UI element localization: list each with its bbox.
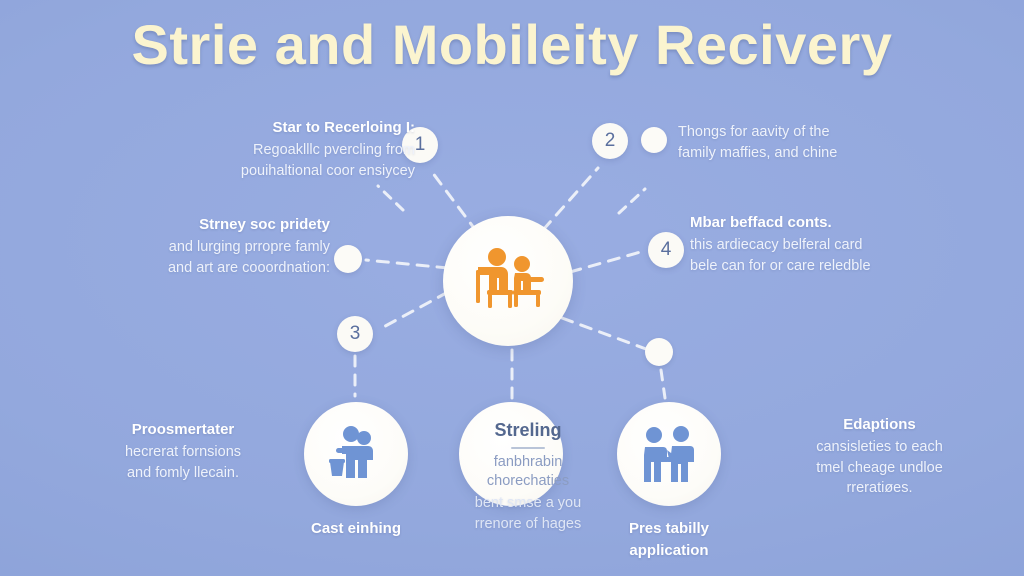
callout-line-1: this ardiecacy belferal card (690, 235, 990, 256)
feature-item-2[interactable] (446, 402, 576, 518)
callout-line-2: bele can for or care reledble (690, 256, 990, 277)
callout-line-1: cansisleties to each (762, 437, 997, 458)
feature-caption-line-1: Pres tabilly (604, 518, 734, 540)
callout-bottom-left: Proosmertater hecrerat fornsions and fom… (78, 420, 288, 483)
feature-caption-line-2: application (604, 540, 734, 562)
callout-heading: Proosmertater (78, 420, 288, 440)
two-people-standing-icon (637, 424, 701, 484)
callout-heading: Strney soc pridety (60, 215, 330, 235)
feature-caption: Pres tabilly application (604, 518, 734, 562)
callout-mid-left: Strney soc pridety and lurging prropre f… (60, 215, 330, 278)
callout-bottom-right: Edaptions cansisleties to each tmel chea… (762, 415, 997, 499)
step-badge-4[interactable]: 4 (648, 232, 684, 268)
callout-line-2: tmel cheage undloe (762, 458, 997, 479)
callout-heading: Mbar beffacd conts. (690, 213, 990, 233)
infographic-canvas: Strie and Mobileity Recivery (0, 0, 1024, 576)
callout-line-1: Thongs for aavity of the (678, 122, 978, 143)
badge-number: 2 (605, 130, 616, 152)
badge-number: 3 (350, 323, 361, 345)
callout-line-1: hecrerat fornsions (78, 442, 288, 463)
badge-number: 4 (661, 239, 672, 261)
callout-line-2: family maffies, and chine (678, 143, 978, 164)
page-title: Strie and Mobileity Recivery (0, 12, 1024, 77)
node-dot-right (645, 338, 673, 366)
two-people-with-bucket-icon (324, 424, 388, 484)
feature-item-3[interactable]: Pres tabilly application (604, 402, 734, 562)
center-hub-circle[interactable] (443, 216, 573, 346)
callout-line-1: Regoaklllc pvercling from (120, 140, 415, 161)
callout-heading: Star to Recerloing I: (120, 118, 415, 138)
callout-line-2: and fomly llecain. (78, 463, 288, 484)
node-dot-left (334, 245, 362, 273)
feature-caption: Cast einhing (291, 518, 421, 540)
callout-line-1: and lurging prropre famly (60, 237, 330, 258)
callout-top-right: Thongs for aavity of the family maffies,… (678, 122, 978, 163)
callout-heading: Edaptions (762, 415, 997, 435)
two-seated-people-therapy-icon (465, 245, 551, 317)
feature-item-1[interactable]: Cast einhing (291, 402, 421, 540)
feature-circle[interactable] (459, 402, 563, 506)
callout-line-2: and art are cooordnation: (60, 258, 330, 279)
callout-line-3: rreratiøes. (762, 478, 997, 499)
callout-mid-right: Mbar beffacd conts. this ardiecacy belfe… (690, 213, 990, 276)
badge-number: 1 (415, 134, 426, 156)
overlay-line-4: rrenore of hages (430, 515, 626, 535)
feature-circle[interactable] (304, 402, 408, 506)
step-badge-3[interactable]: 3 (337, 316, 373, 352)
node-dot-top-right (641, 127, 667, 153)
callout-top-left: Star to Recerloing I: Regoaklllc pvercli… (120, 118, 415, 181)
feature-circle[interactable] (617, 402, 721, 506)
callout-line-2: pouihaltional coor ensiycey (120, 161, 415, 182)
step-badge-2[interactable]: 2 (592, 123, 628, 159)
